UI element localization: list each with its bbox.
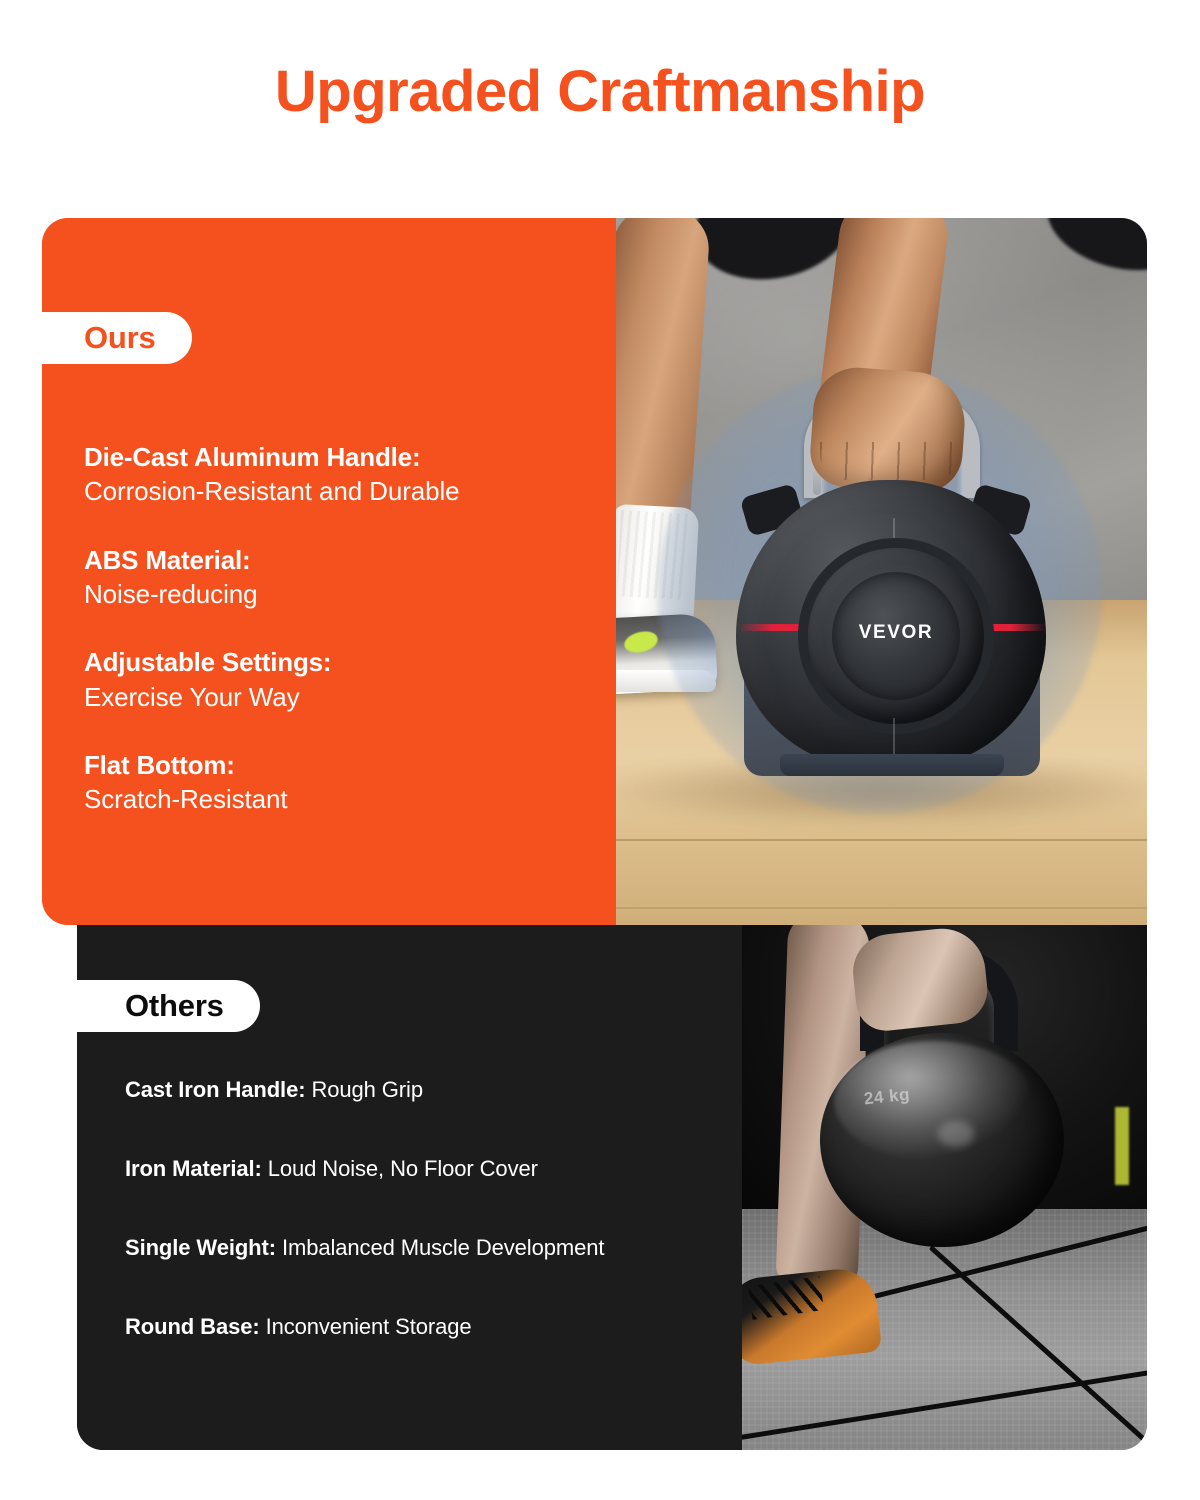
others-badge-label: Others [125,988,224,1024]
ours-feature-list: Die-Cast Aluminum Handle: Corrosion-Resi… [84,440,604,818]
athlete-knuckles [820,442,960,480]
ours-feature-item: ABS Material: Noise-reducing [84,543,604,613]
floor-seam [616,907,1147,909]
others-feature-label: Iron Material: [125,1156,268,1181]
ours-feature-desc: Noise-reducing [84,577,604,612]
kettlebell-gloss-highlight [938,1121,974,1147]
ours-feature-label: Adjustable Settings: [84,645,604,679]
vevor-logo: VEVOR [832,622,960,644]
ours-feature-item: Die-Cast Aluminum Handle: Corrosion-Resi… [84,440,604,510]
ours-feature-label: Flat Bottom: [84,748,604,782]
ours-feature-desc: Exercise Your Way [84,680,604,715]
page-title: Upgraded Craftmanship [0,60,1200,124]
others-feature-desc: Loud Noise, No Floor Cover [268,1156,538,1181]
others-product-photo: 24 kg [742,925,1147,1450]
others-feature-label: Single Weight: [125,1235,282,1260]
ours-feature-item: Adjustable Settings: Exercise Your Way [84,645,604,715]
background-equipment-highlight [1115,1107,1129,1185]
ours-feature-item: Flat Bottom: Scratch-Resistant [84,748,604,818]
others-feature-list: Cast Iron Handle: Rough Grip Iron Materi… [125,1077,725,1340]
ours-panel: VEVOR Ours Die-Cast Aluminum Handle: Cor… [42,218,1147,925]
others-feature-desc: Inconvenient Storage [266,1314,472,1339]
others-panel: 24 kg Others Cast Iron Handle: Rough Gri… [77,925,1147,1450]
ours-feature-label: ABS Material: [84,543,604,577]
others-badge: Others [77,980,260,1032]
others-feature-desc: Imbalanced Muscle Development [282,1235,604,1260]
floor-seam [616,839,1147,841]
athlete-hand [849,925,990,1034]
ours-feature-desc: Corrosion-Resistant and Durable [84,474,604,509]
ours-feature-label: Die-Cast Aluminum Handle: [84,440,604,474]
others-feature-item: Iron Material: Loud Noise, No Floor Cove… [125,1156,725,1182]
others-feature-desc: Rough Grip [311,1077,423,1102]
ours-product-photo: VEVOR [616,218,1147,925]
ours-feature-desc: Scratch-Resistant [84,782,604,817]
others-feature-label: Cast Iron Handle: [125,1077,311,1102]
others-feature-label: Round Base: [125,1314,266,1339]
others-feature-item: Single Weight: Imbalanced Muscle Develop… [125,1235,725,1261]
others-feature-item: Round Base: Inconvenient Storage [125,1314,725,1340]
others-feature-item: Cast Iron Handle: Rough Grip [125,1077,725,1103]
ours-badge: Ours [42,312,192,364]
kettlebell-flat-bottom [780,754,1004,776]
ours-badge-label: Ours [84,320,156,356]
